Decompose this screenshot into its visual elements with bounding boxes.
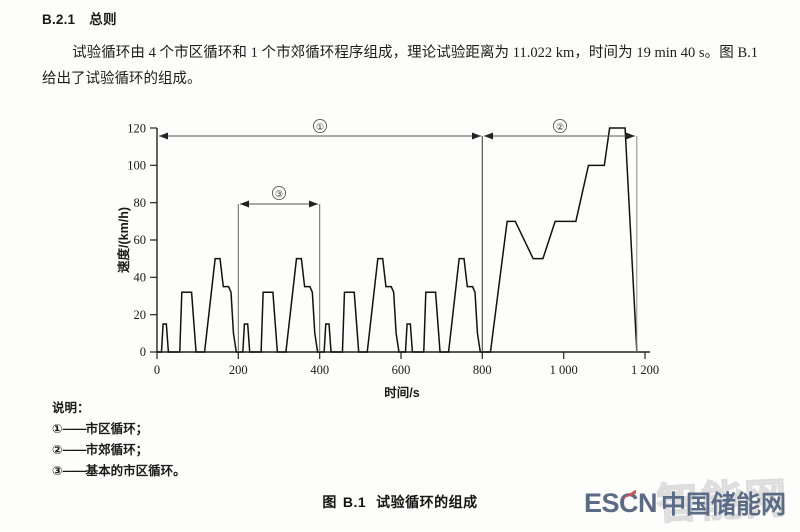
body-paragraph: 试验循环由 4 个市区循环和 1 个市郊循环程序组成，理论试验距离为 11.02… xyxy=(42,40,758,92)
span-extraurban-label: ② xyxy=(556,122,564,132)
speed-trace-line xyxy=(157,128,637,352)
x-tick-label: 1 000 xyxy=(550,363,578,377)
section-heading: B.2.1总则 xyxy=(42,8,117,28)
y-tick-label: 40 xyxy=(134,271,147,285)
section-number: B.2.1 xyxy=(42,12,75,27)
figure-b1: 0 20 40 60 80 100 120 0 200 4 xyxy=(0,108,800,408)
note-item-basic-urban: ③——基本的市区循环。 xyxy=(52,461,186,482)
note-text: 基本的市区循环。 xyxy=(86,464,186,478)
note-item-extraurban: ②——市郊循环； xyxy=(52,440,186,461)
x-tick-label: 400 xyxy=(310,363,329,377)
x-axis-tick-labels: 0 200 400 600 800 1 000 1 200 xyxy=(154,363,659,377)
escn-brand-cn: 中国储能网 xyxy=(661,485,786,521)
note-item-urban: ①——市区循环； xyxy=(52,419,186,440)
escn-brand: ESCN xyxy=(584,488,657,518)
notes-title: 说明： xyxy=(52,398,186,419)
y-axis-ticks xyxy=(150,128,157,352)
note-marker: ② xyxy=(52,443,63,457)
x-tick-label: 1 200 xyxy=(631,363,659,377)
span-extraurban-arrow: ② xyxy=(484,119,635,139)
caption-title: 试验循环的组成 xyxy=(376,494,478,510)
span-urban-label: ① xyxy=(316,122,324,132)
span-basic-label: ③ xyxy=(275,189,283,199)
y-tick-label: 0 xyxy=(140,345,146,359)
escn-logo-text: ESCN xyxy=(584,488,657,519)
x-tick-label: 200 xyxy=(229,363,248,377)
x-tick-label: 800 xyxy=(473,363,492,377)
y-axis-label: 速度/(km/h) xyxy=(116,207,131,273)
y-tick-label: 60 xyxy=(134,233,147,247)
span-basic-bracket: ③ xyxy=(238,186,319,352)
y-tick-label: 20 xyxy=(134,308,147,322)
x-axis-ticks xyxy=(157,352,645,359)
caption-prefix: 图 xyxy=(322,494,337,510)
escn-watermark: ESCN 中国储能网 xyxy=(584,485,786,521)
note-marker: ① xyxy=(52,422,63,436)
y-tick-label: 100 xyxy=(127,159,146,173)
note-dash: —— xyxy=(63,422,86,436)
figure-notes: 说明： ①——市区循环； ②——市郊循环； ③——基本的市区循环。 xyxy=(52,398,186,482)
caption-number: B.1 xyxy=(343,494,366,510)
note-dash: —— xyxy=(63,443,86,457)
span-urban-arrow: ① xyxy=(159,119,481,139)
y-tick-label: 120 xyxy=(127,122,146,136)
x-tick-label: 600 xyxy=(392,363,411,377)
y-tick-label: 80 xyxy=(134,196,147,210)
x-tick-label: 0 xyxy=(154,363,160,377)
x-axis-label: 时间/s xyxy=(384,385,419,400)
note-text: 市郊循环； xyxy=(86,443,149,457)
driving-cycle-chart: 0 20 40 60 80 100 120 0 200 4 xyxy=(0,108,800,408)
section-title: 总则 xyxy=(89,12,116,27)
chart-plot-area: 0 20 40 60 80 100 120 0 200 4 xyxy=(116,119,659,400)
note-text: 市区循环； xyxy=(86,422,149,436)
note-marker: ③ xyxy=(52,464,63,478)
body-paragraph-text: 试验循环由 4 个市区循环和 1 个市郊循环程序组成，理论试验距离为 11.02… xyxy=(42,45,758,87)
note-dash: —— xyxy=(63,464,86,478)
